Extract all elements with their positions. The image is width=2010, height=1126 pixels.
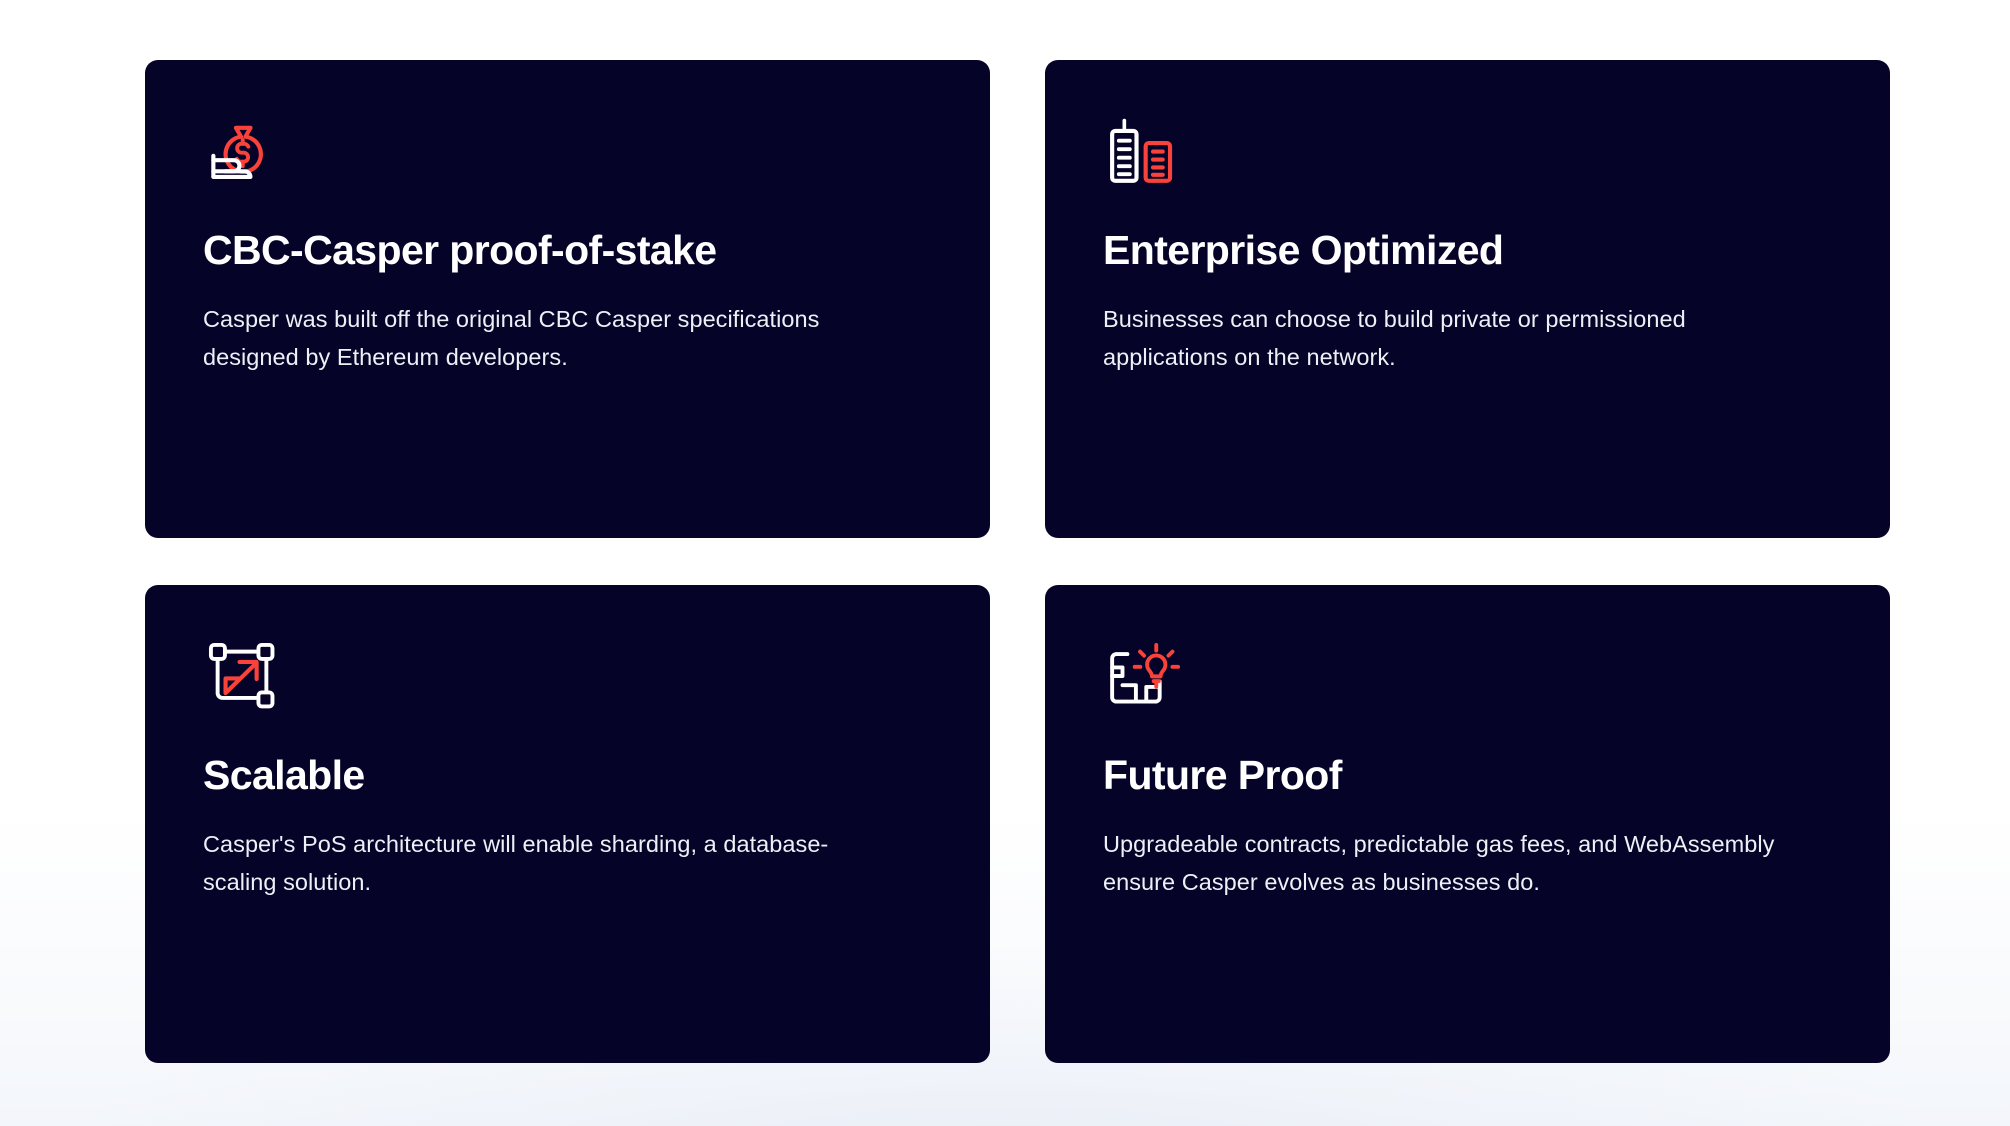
card-title: CBC-Casper proof-of-stake xyxy=(203,228,932,274)
feature-card-grid: CBC-Casper proof-of-stake Casper was bui… xyxy=(145,60,1890,1063)
card-description: Upgradeable contracts, predictable gas f… xyxy=(1103,825,1783,901)
card-description: Casper was built off the original CBC Ca… xyxy=(203,300,883,376)
office-buildings-icon xyxy=(1103,112,1181,190)
feature-card-future-proof[interactable]: Future Proof Upgradeable contracts, pred… xyxy=(1045,585,1890,1063)
money-bag-hand-icon xyxy=(203,112,281,190)
feature-card-scalable[interactable]: Scalable Casper's PoS architecture will … xyxy=(145,585,990,1063)
card-title: Scalable xyxy=(203,753,932,799)
lightbulb-circuit-icon xyxy=(1103,637,1181,715)
feature-card-enterprise-optimized[interactable]: Enterprise Optimized Businesses can choo… xyxy=(1045,60,1890,538)
scale-arrow-icon xyxy=(203,637,281,715)
card-description: Casper's PoS architecture will enable sh… xyxy=(203,825,883,901)
card-description: Businesses can choose to build private o… xyxy=(1103,300,1783,376)
card-title: Future Proof xyxy=(1103,753,1832,799)
card-title: Enterprise Optimized xyxy=(1103,228,1832,274)
feature-card-cbc-casper-proof-of-stake[interactable]: CBC-Casper proof-of-stake Casper was bui… xyxy=(145,60,990,538)
